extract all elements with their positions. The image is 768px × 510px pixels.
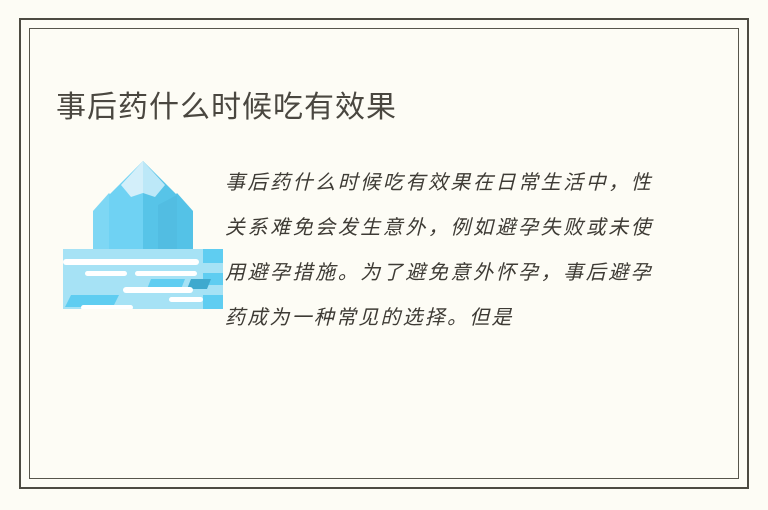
page-content: 事后药什么时候吃有效果 bbox=[29, 28, 739, 479]
article-paragraph: 事后药什么时候吃有效果在日常生活中，性关系难免会发生意外，例如避孕失败或未使用避… bbox=[225, 160, 653, 340]
article-page: 事后药什么时候吃有效果 bbox=[0, 0, 768, 510]
article-body: 事后药什么时候吃有效果在日常生活中，性关系难免会发生意外，例如避孕失败或未使用避… bbox=[29, 140, 739, 479]
page-title: 事后药什么时候吃有效果 bbox=[56, 88, 397, 128]
iceberg-illustration bbox=[63, 149, 223, 309]
